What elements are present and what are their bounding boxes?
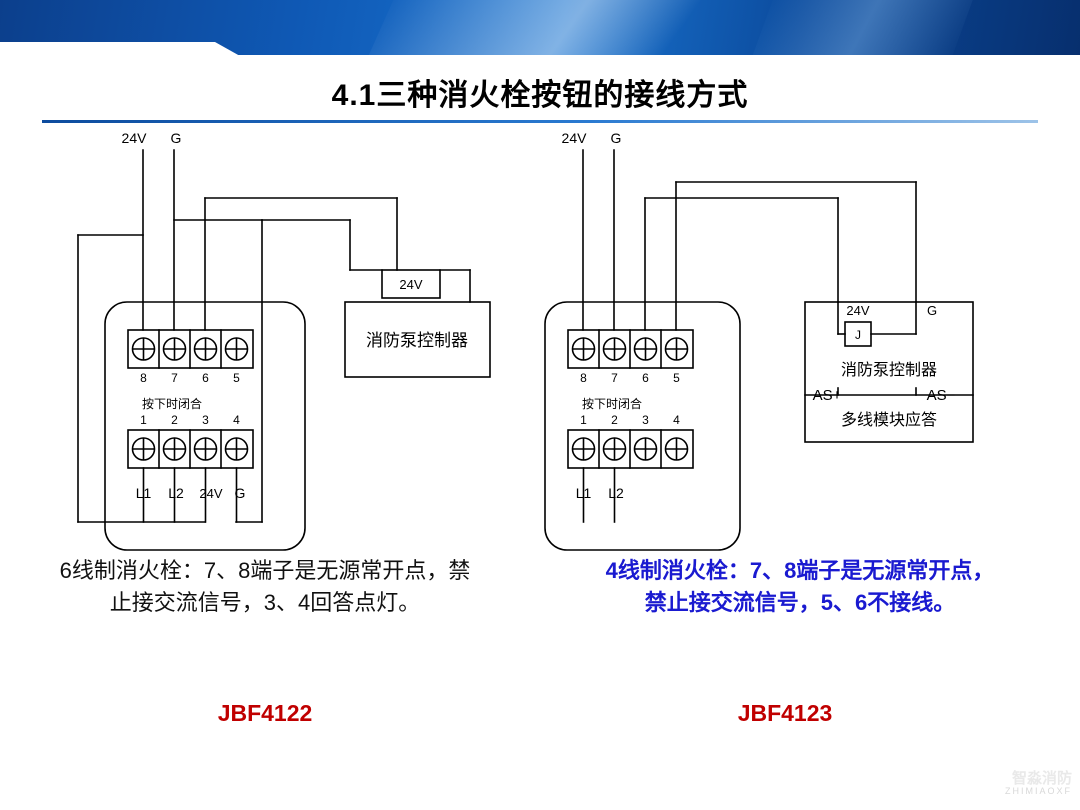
left-terminal-2: 2 <box>171 413 178 427</box>
right-label-l1: L1 <box>576 485 592 501</box>
bottom-banner-shine-decor <box>450 760 750 810</box>
left-label-24v: 24V <box>199 486 222 501</box>
left-label-l1: L1 <box>136 485 152 501</box>
right-24v-label: 24V <box>562 130 588 146</box>
left-terminal-3: 3 <box>202 413 209 427</box>
right-terminal-3: 3 <box>642 413 649 427</box>
left-g-label: G <box>171 130 182 146</box>
right-model-label: JBF4123 <box>620 700 950 727</box>
watermark: 智淼消防 ZHIMIAOXF <box>1005 771 1072 796</box>
left-terminal-1: 1 <box>140 413 147 427</box>
watermark-sub: ZHIMIAOXF <box>1005 787 1072 796</box>
site-url: www.jbufa.com <box>831 778 962 798</box>
right-label-l2: L2 <box>608 485 624 501</box>
left-terminal-8: 8 <box>140 371 147 385</box>
right-module-label: 多线模块应答 <box>841 410 937 429</box>
left-terminal-5: 5 <box>233 371 240 385</box>
banner-shine-decor-2 <box>740 0 980 55</box>
left-controller-24v: 24V <box>399 277 422 292</box>
title-divider <box>42 120 1038 123</box>
right-terminal-4: 4 <box>673 413 680 427</box>
right-controller-name: 消防泵控制器 <box>841 361 937 379</box>
left-terminal-6: 6 <box>202 371 209 385</box>
banner-notch-decor <box>0 42 240 56</box>
right-controller-24v: 24V <box>846 303 869 318</box>
bottom-notch-decor <box>760 750 1080 766</box>
left-terminal-4: 4 <box>233 413 240 427</box>
right-controller-g: G <box>927 303 937 318</box>
watermark-main: 智淼消防 <box>1005 771 1072 787</box>
page-title: 4.1三种消火栓按钮的接线方式 <box>0 70 1080 114</box>
right-relay-j: J <box>855 328 861 342</box>
right-as-minus: AS− <box>927 387 956 404</box>
right-terminal-8: 8 <box>580 371 587 385</box>
right-terminal-5: 5 <box>673 371 680 385</box>
right-terminal-6: 6 <box>642 371 649 385</box>
right-caption: 4线制消火栓：7、8端子是无源常开点，禁止接交流信号，5、6不接线。 <box>600 555 1000 619</box>
right-as-plus: AS+ <box>813 387 842 404</box>
right-terminal-7: 7 <box>611 371 618 385</box>
right-inner-note: 按下时闭合 <box>582 396 642 411</box>
left-label-l2: L2 <box>168 485 184 501</box>
left-caption: 6线制消火栓：7、8端子是无源常开点，禁止接交流信号，3、4回答点灯。 <box>50 555 480 619</box>
left-terminal-7: 7 <box>171 371 178 385</box>
left-controller-name: 消防泵控制器 <box>366 331 468 350</box>
left-label-g: G <box>235 485 246 501</box>
right-g-label: G <box>611 130 622 146</box>
left-24v-label: 24V <box>122 130 148 146</box>
right-terminal-2: 2 <box>611 413 618 427</box>
right-terminal-1: 1 <box>580 413 587 427</box>
left-inner-note: 按下时闭合 <box>142 396 202 411</box>
left-model-label: JBF4122 <box>90 700 440 727</box>
